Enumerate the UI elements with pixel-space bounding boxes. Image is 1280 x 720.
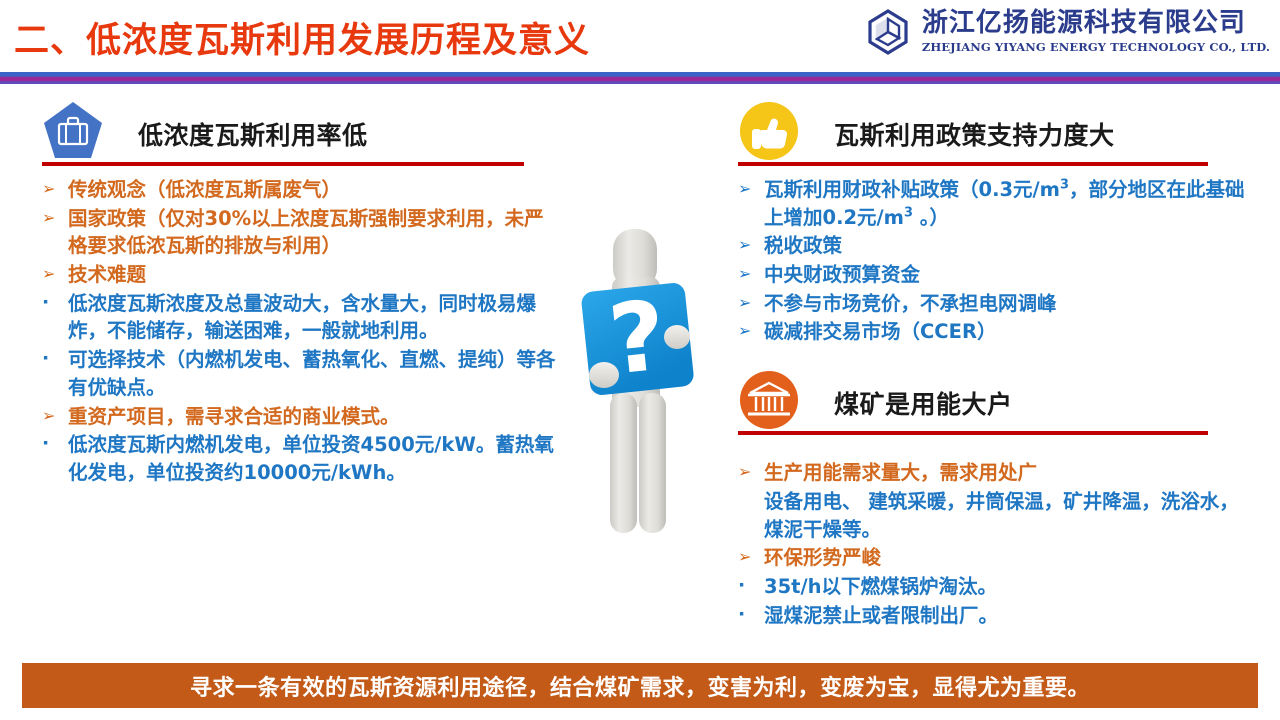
- briefcase-pentagon-icon: [42, 100, 104, 162]
- list-item-text: 不参与市场竞价，不承担电网调峰: [764, 290, 1248, 318]
- bullet-list-low-utilization-rate: ➢ 传统观念（低浓度瓦斯属废气） ➢ 国家政策（仅对30%以上浓度瓦斯强制要求利…: [42, 176, 562, 487]
- section-title: 瓦斯利用政策支持力度大: [834, 116, 1115, 152]
- bullet-list-coal-mine-energy-user: ➢ 生产用能需求量大，需求用处广 设备用电、 建筑采暖，井筒保温，矿井降温，洗浴…: [738, 459, 1248, 629]
- list-item-text: 生产用能需求量大，需求用处广: [764, 459, 1248, 487]
- slide-header: 二、低浓度瓦斯利用发展历程及意义 浙江亿扬能源科技有限公司 ZHEJIANG Y…: [0, 0, 1280, 72]
- list-item: ➢ 不参与市场竞价，不承担电网调峰: [738, 290, 1248, 318]
- list-item: ➢ 技术难题: [42, 261, 562, 289]
- section-header-low-utilization-rate: 低浓度瓦斯利用率低: [42, 100, 562, 162]
- list-item-text: 可选择技术（内燃机发电、蓄热氧化、直燃、提纯）等各有优缺点。: [68, 346, 562, 401]
- arrow-bullet-icon: ➢: [42, 261, 68, 287]
- list-item-text: 国家政策（仅对30%以上浓度瓦斯强制要求利用，未严格要求低浓瓦斯的排放与利用）: [68, 205, 562, 260]
- arrow-bullet-icon: ➢: [42, 403, 68, 429]
- list-item: · 可选择技术（内燃机发电、蓄热氧化、直燃、提纯）等各有优缺点。: [42, 346, 562, 401]
- list-item: ➢ 税收政策: [738, 232, 1248, 260]
- section-header-coal-mine-energy-user: 煤矿是用能大户: [738, 369, 1248, 431]
- bullet-spacer: [738, 435, 1248, 449]
- section-rule: [42, 162, 524, 166]
- list-item: · 低浓度瓦斯浓度及总量波动大，含水量大，同时极易爆炸，不能储存，输送困难，一般…: [42, 290, 562, 345]
- arrow-bullet-icon: ➢: [738, 261, 764, 287]
- list-item-text: 环保形势严峻: [764, 544, 1248, 572]
- arrow-bullet-icon: ➢: [738, 544, 764, 570]
- list-item: · 湿煤泥禁止或者限制出厂。: [738, 602, 1248, 630]
- company-name-cn: 浙江亿扬能源科技有限公司: [922, 10, 1270, 37]
- list-item-text: 中央财政预算资金: [764, 261, 1248, 289]
- list-item: · 35t/h以下燃煤锅炉淘汰。: [738, 573, 1248, 601]
- list-item-text: 重资产项目，需寻求合适的商业模式。: [68, 403, 562, 431]
- section-spacer: [738, 347, 1248, 369]
- dot-bullet-icon: ·: [738, 573, 764, 599]
- header-divider: [0, 72, 1280, 84]
- arrow-bullet-icon: ➢: [738, 232, 764, 258]
- arrow-bullet-icon: ➢: [738, 176, 764, 202]
- hexagon-cube-logo-icon: [864, 8, 912, 56]
- list-item: ➢ 国家政策（仅对30%以上浓度瓦斯强制要求利用，未严格要求低浓瓦斯的排放与利用…: [42, 205, 562, 260]
- section-title: 低浓度瓦斯利用率低: [138, 116, 368, 152]
- list-item: ➢ 生产用能需求量大，需求用处广: [738, 459, 1248, 487]
- list-item: ➢ 环保形势严峻: [738, 544, 1248, 572]
- list-item-text: 低浓度瓦斯内燃机发电，单位投资4500元/kW。蓄热氧化发电，单位投资约1000…: [68, 431, 562, 486]
- arrow-bullet-icon: ➢: [42, 205, 68, 231]
- list-item-text: 低浓度瓦斯浓度及总量波动大，含水量大，同时极易爆炸，不能储存，输送困难，一般就地…: [68, 290, 562, 345]
- right-column: 瓦斯利用政策支持力度大 ➢ 瓦斯利用财政补贴政策（0.3元/m3，部分地区在此基…: [738, 100, 1248, 630]
- list-item: ➢ 重资产项目，需寻求合适的商业模式。: [42, 403, 562, 431]
- list-item-text: 35t/h以下燃煤锅炉淘汰。: [764, 573, 1248, 601]
- section-header-policy-support: 瓦斯利用政策支持力度大: [738, 100, 1248, 162]
- list-item-continuation: 设备用电、 建筑采暖，井筒保温，矿井降温，洗浴水，煤泥干燥等。: [738, 488, 1248, 543]
- bank-circle-icon: [738, 369, 800, 431]
- dot-bullet-icon: ·: [42, 431, 68, 457]
- list-item: ➢ 中央财政预算资金: [738, 261, 1248, 289]
- bullet-list-policy-support: ➢ 瓦斯利用财政补贴政策（0.3元/m3，部分地区在此基础上增加0.2元/m3 …: [738, 176, 1248, 346]
- list-item-text: 税收政策: [764, 232, 1248, 260]
- list-item-text: 技术难题: [68, 261, 562, 289]
- list-item: ➢ 碳减排交易市场（CCER）: [738, 318, 1248, 346]
- dot-bullet-icon: ·: [42, 290, 68, 316]
- company-name-en: ZHEJIANG YIYANG ENERGY TECHNOLOGY CO., L…: [922, 40, 1270, 54]
- person-holding-question-mark-sign: ?: [556, 225, 726, 560]
- arrow-bullet-icon: ➢: [738, 318, 764, 344]
- dot-bullet-icon: ·: [42, 346, 68, 372]
- section-title: 煤矿是用能大户: [834, 385, 1013, 421]
- list-item-text: 湿煤泥禁止或者限制出厂。: [764, 602, 1248, 630]
- arrow-bullet-icon: ➢: [738, 290, 764, 316]
- list-item-text: 碳减排交易市场（CCER）: [764, 318, 1248, 346]
- list-item: · 低浓度瓦斯内燃机发电，单位投资4500元/kW。蓄热氧化发电，单位投资约10…: [42, 431, 562, 486]
- list-item: ➢ 传统观念（低浓度瓦斯属废气）: [42, 176, 562, 204]
- conclusion-banner-text: 寻求一条有效的瓦斯资源利用途径，结合煤矿需求，变害为利，变废为宝，显得尤为重要。: [190, 670, 1090, 702]
- conclusion-banner: 寻求一条有效的瓦斯资源利用途径，结合煤矿需求，变害为利，变废为宝，显得尤为重要。: [22, 663, 1258, 708]
- list-item-text: 传统观念（低浓度瓦斯属废气）: [68, 176, 562, 204]
- arrow-bullet-icon: ➢: [738, 459, 764, 485]
- dot-bullet-icon: ·: [738, 602, 764, 628]
- logo-text-block: 浙江亿扬能源科技有限公司 ZHEJIANG YIYANG ENERGY TECH…: [922, 10, 1270, 53]
- thumbs-up-circle-icon: [738, 100, 800, 162]
- page-title: 二、低浓度瓦斯利用发展历程及意义: [14, 12, 590, 63]
- arrow-bullet-icon: ➢: [42, 176, 68, 202]
- company-logo: 浙江亿扬能源科技有限公司 ZHEJIANG YIYANG ENERGY TECH…: [864, 8, 1270, 56]
- list-item: ➢ 瓦斯利用财政补贴政策（0.3元/m3，部分地区在此基础上增加0.2元/m3 …: [738, 176, 1248, 231]
- left-column: 低浓度瓦斯利用率低 ➢ 传统观念（低浓度瓦斯属废气） ➢ 国家政策（仅对30%以…: [42, 100, 562, 488]
- list-item-text: 瓦斯利用财政补贴政策（0.3元/m3，部分地区在此基础上增加0.2元/m3 。）: [764, 176, 1248, 231]
- section-rule: [738, 162, 1208, 166]
